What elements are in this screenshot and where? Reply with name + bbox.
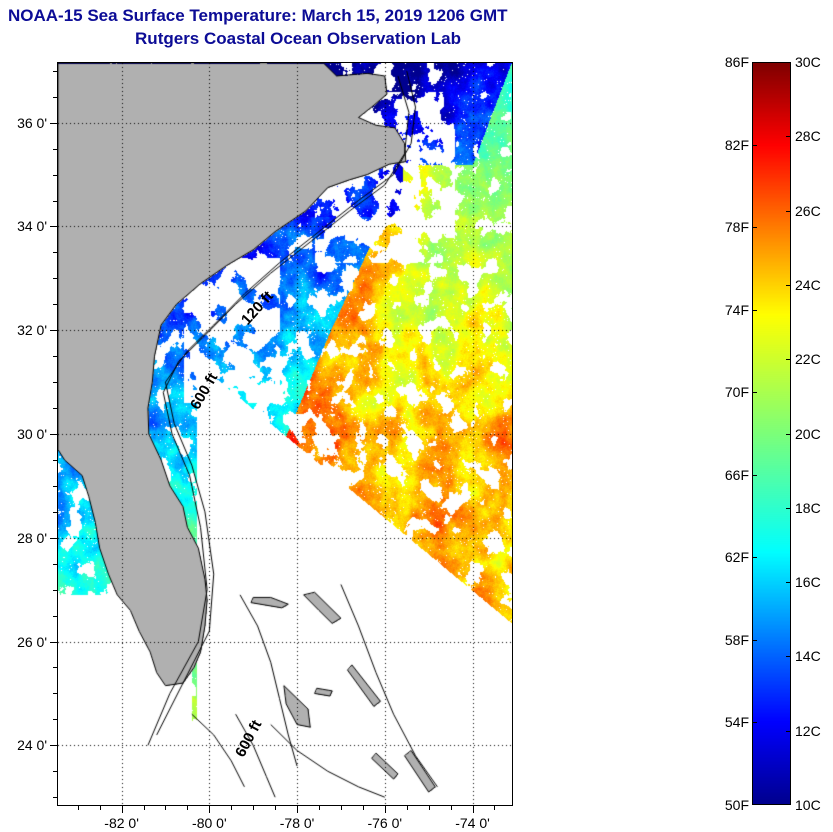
colorbar-c-label: 30C xyxy=(795,54,821,70)
colorbar-f-label: 54F xyxy=(713,714,749,730)
latitude-tick-major xyxy=(50,434,58,435)
latitude-label: 30 0' xyxy=(17,426,47,442)
latitude-tick-minor xyxy=(53,460,58,461)
latitude-tick-minor xyxy=(53,201,58,202)
longitude-tick-major xyxy=(209,805,210,813)
latitude-tick-minor xyxy=(53,382,58,383)
latitude-tick-minor xyxy=(53,356,58,357)
latitude-tick-minor xyxy=(53,590,58,591)
longitude-tick-major xyxy=(385,805,386,813)
figure-title-block: NOAA-15 Sea Surface Temperature: March 1… xyxy=(0,4,580,50)
latitude-label: 32 0' xyxy=(17,322,47,338)
latitude-tick-minor xyxy=(53,175,58,176)
colorbar-c-label: 22C xyxy=(795,351,821,367)
longitude-tick-minor xyxy=(341,805,342,810)
longitude-tick-major xyxy=(473,805,474,813)
latitude-tick-minor xyxy=(53,149,58,150)
colorbar-tick xyxy=(752,557,757,558)
latitude-tick-minor xyxy=(53,512,58,513)
latitude-tick-major xyxy=(50,123,58,124)
longitude-tick-minor xyxy=(253,805,254,810)
colorbar-tick xyxy=(786,359,791,360)
colorbar-tick xyxy=(786,731,791,732)
colorbar-c-label: 20C xyxy=(795,426,821,442)
longitude-label: -78 0' xyxy=(280,815,315,831)
colorbar-tick xyxy=(752,310,757,311)
page-title: NOAA-15 Sea Surface Temperature: March 1… xyxy=(0,4,580,27)
longitude-tick-minor xyxy=(494,805,495,810)
colorbar-gradient xyxy=(753,63,790,804)
latitude-tick-minor xyxy=(53,97,58,98)
longitude-tick-minor xyxy=(275,805,276,810)
longitude-tick-minor xyxy=(187,805,188,810)
page-subtitle: Rutgers Coastal Ocean Observation Lab xyxy=(0,27,580,50)
latitude-label: 26 0' xyxy=(17,634,47,650)
graticule-overlay xyxy=(58,63,512,805)
colorbar-f-label: 86F xyxy=(713,54,749,70)
latitude-tick-minor xyxy=(53,667,58,668)
latitude-tick-minor xyxy=(53,278,58,279)
colorbar-tick xyxy=(786,434,791,435)
colorbar-c-label: 14C xyxy=(795,648,821,664)
latitude-tick-major xyxy=(50,642,58,643)
latitude-label: 24 0' xyxy=(17,737,47,753)
latitude-tick-minor xyxy=(53,616,58,617)
colorbar-c-label: 28C xyxy=(795,128,821,144)
colorbar-f-label: 70F xyxy=(713,384,749,400)
latitude-tick-major xyxy=(50,538,58,539)
colorbar-f-label: 74F xyxy=(713,302,749,318)
longitude-tick-minor xyxy=(319,805,320,810)
latitude-label: 34 0' xyxy=(17,218,47,234)
colorbar-tick xyxy=(786,508,791,509)
latitude-tick-major xyxy=(50,226,58,227)
latitude-tick-minor xyxy=(53,71,58,72)
longitude-tick-major xyxy=(297,805,298,813)
longitude-tick-minor xyxy=(100,805,101,810)
longitude-tick-minor xyxy=(231,805,232,810)
colorbar-c-label: 24C xyxy=(795,277,821,293)
colorbar-c-label: 18C xyxy=(795,500,821,516)
colorbar-c-label: 12C xyxy=(795,723,821,739)
colorbar-tick xyxy=(786,582,791,583)
longitude-tick-minor xyxy=(451,805,452,810)
longitude-tick-minor xyxy=(78,805,79,810)
colorbar-f-label: 58F xyxy=(713,632,749,648)
longitude-label: -74 0' xyxy=(455,815,490,831)
colorbar-tick xyxy=(752,475,757,476)
colorbar-f-label: 66F xyxy=(713,467,749,483)
latitude-tick-minor xyxy=(53,771,58,772)
longitude-label: -76 0' xyxy=(367,815,402,831)
colorbar-tick xyxy=(752,145,757,146)
colorbar-tick xyxy=(752,392,757,393)
longitude-tick-minor xyxy=(165,805,166,810)
latitude-label: 28 0' xyxy=(17,530,47,546)
colorbar-tick xyxy=(786,656,791,657)
longitude-label: -80 0' xyxy=(192,815,227,831)
longitude-tick-minor xyxy=(144,805,145,810)
latitude-label: 36 0' xyxy=(17,115,47,131)
latitude-tick-minor xyxy=(53,797,58,798)
colorbar-f-label: 78F xyxy=(713,219,749,235)
latitude-tick-minor xyxy=(53,693,58,694)
colorbar-f-label: 82F xyxy=(713,137,749,153)
latitude-tick-minor xyxy=(53,719,58,720)
colorbar-tick xyxy=(786,136,791,137)
longitude-tick-minor xyxy=(363,805,364,810)
colorbar-c-label: 26C xyxy=(795,203,821,219)
sst-map-figure: NOAA-15 Sea Surface Temperature: March 1… xyxy=(0,0,833,832)
colorbar-tick xyxy=(786,211,791,212)
colorbar-tick xyxy=(752,722,757,723)
latitude-tick-minor xyxy=(53,252,58,253)
map-plot-area: 36 0'34 0'32 0'30 0'28 0'26 0'24 0' -82 … xyxy=(57,62,513,806)
longitude-tick-minor xyxy=(429,805,430,810)
colorbar-tick xyxy=(786,285,791,286)
colorbar-f-label: 50F xyxy=(713,797,749,813)
longitude-label: -82 0' xyxy=(104,815,139,831)
latitude-tick-minor xyxy=(53,564,58,565)
colorbar-c-label: 16C xyxy=(795,574,821,590)
latitude-tick-major xyxy=(50,330,58,331)
colorbar-c-label: 10C xyxy=(795,797,821,813)
longitude-tick-major xyxy=(122,805,123,813)
colorbar-f-label: 62F xyxy=(713,549,749,565)
latitude-tick-minor xyxy=(53,408,58,409)
colorbar-tick xyxy=(752,227,757,228)
longitude-tick-minor xyxy=(407,805,408,810)
latitude-tick-minor xyxy=(53,486,58,487)
latitude-tick-major xyxy=(50,745,58,746)
colorbar-tick xyxy=(752,640,757,641)
latitude-tick-minor xyxy=(53,304,58,305)
